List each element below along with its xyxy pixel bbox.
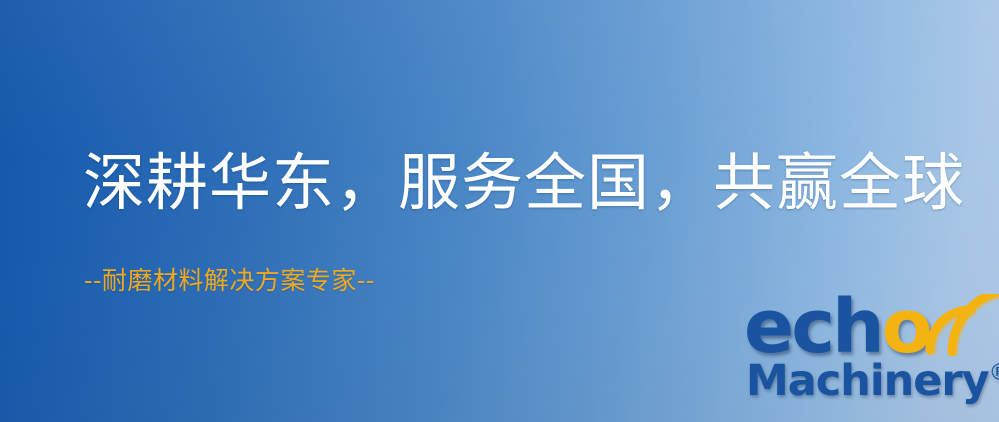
logo-tagline: Machinery®	[746, 360, 999, 403]
logo-brand-text: echo	[744, 290, 930, 364]
promo-banner: 深耕华东，服务全国，共赢全球 --耐磨材料解决方案专家-- echo Machi…	[0, 0, 999, 422]
banner-headline: 深耕华东，服务全国，共赢全球	[83, 152, 965, 214]
echo-wave-icon	[922, 294, 999, 356]
echo-machinery-logo: echo Machinery®	[742, 296, 999, 422]
banner-subtitle: --耐磨材料解决方案专家--	[84, 268, 375, 293]
logo-machinery-text: Machinery	[746, 356, 989, 406]
registered-trademark-mark: ®	[989, 361, 999, 386]
